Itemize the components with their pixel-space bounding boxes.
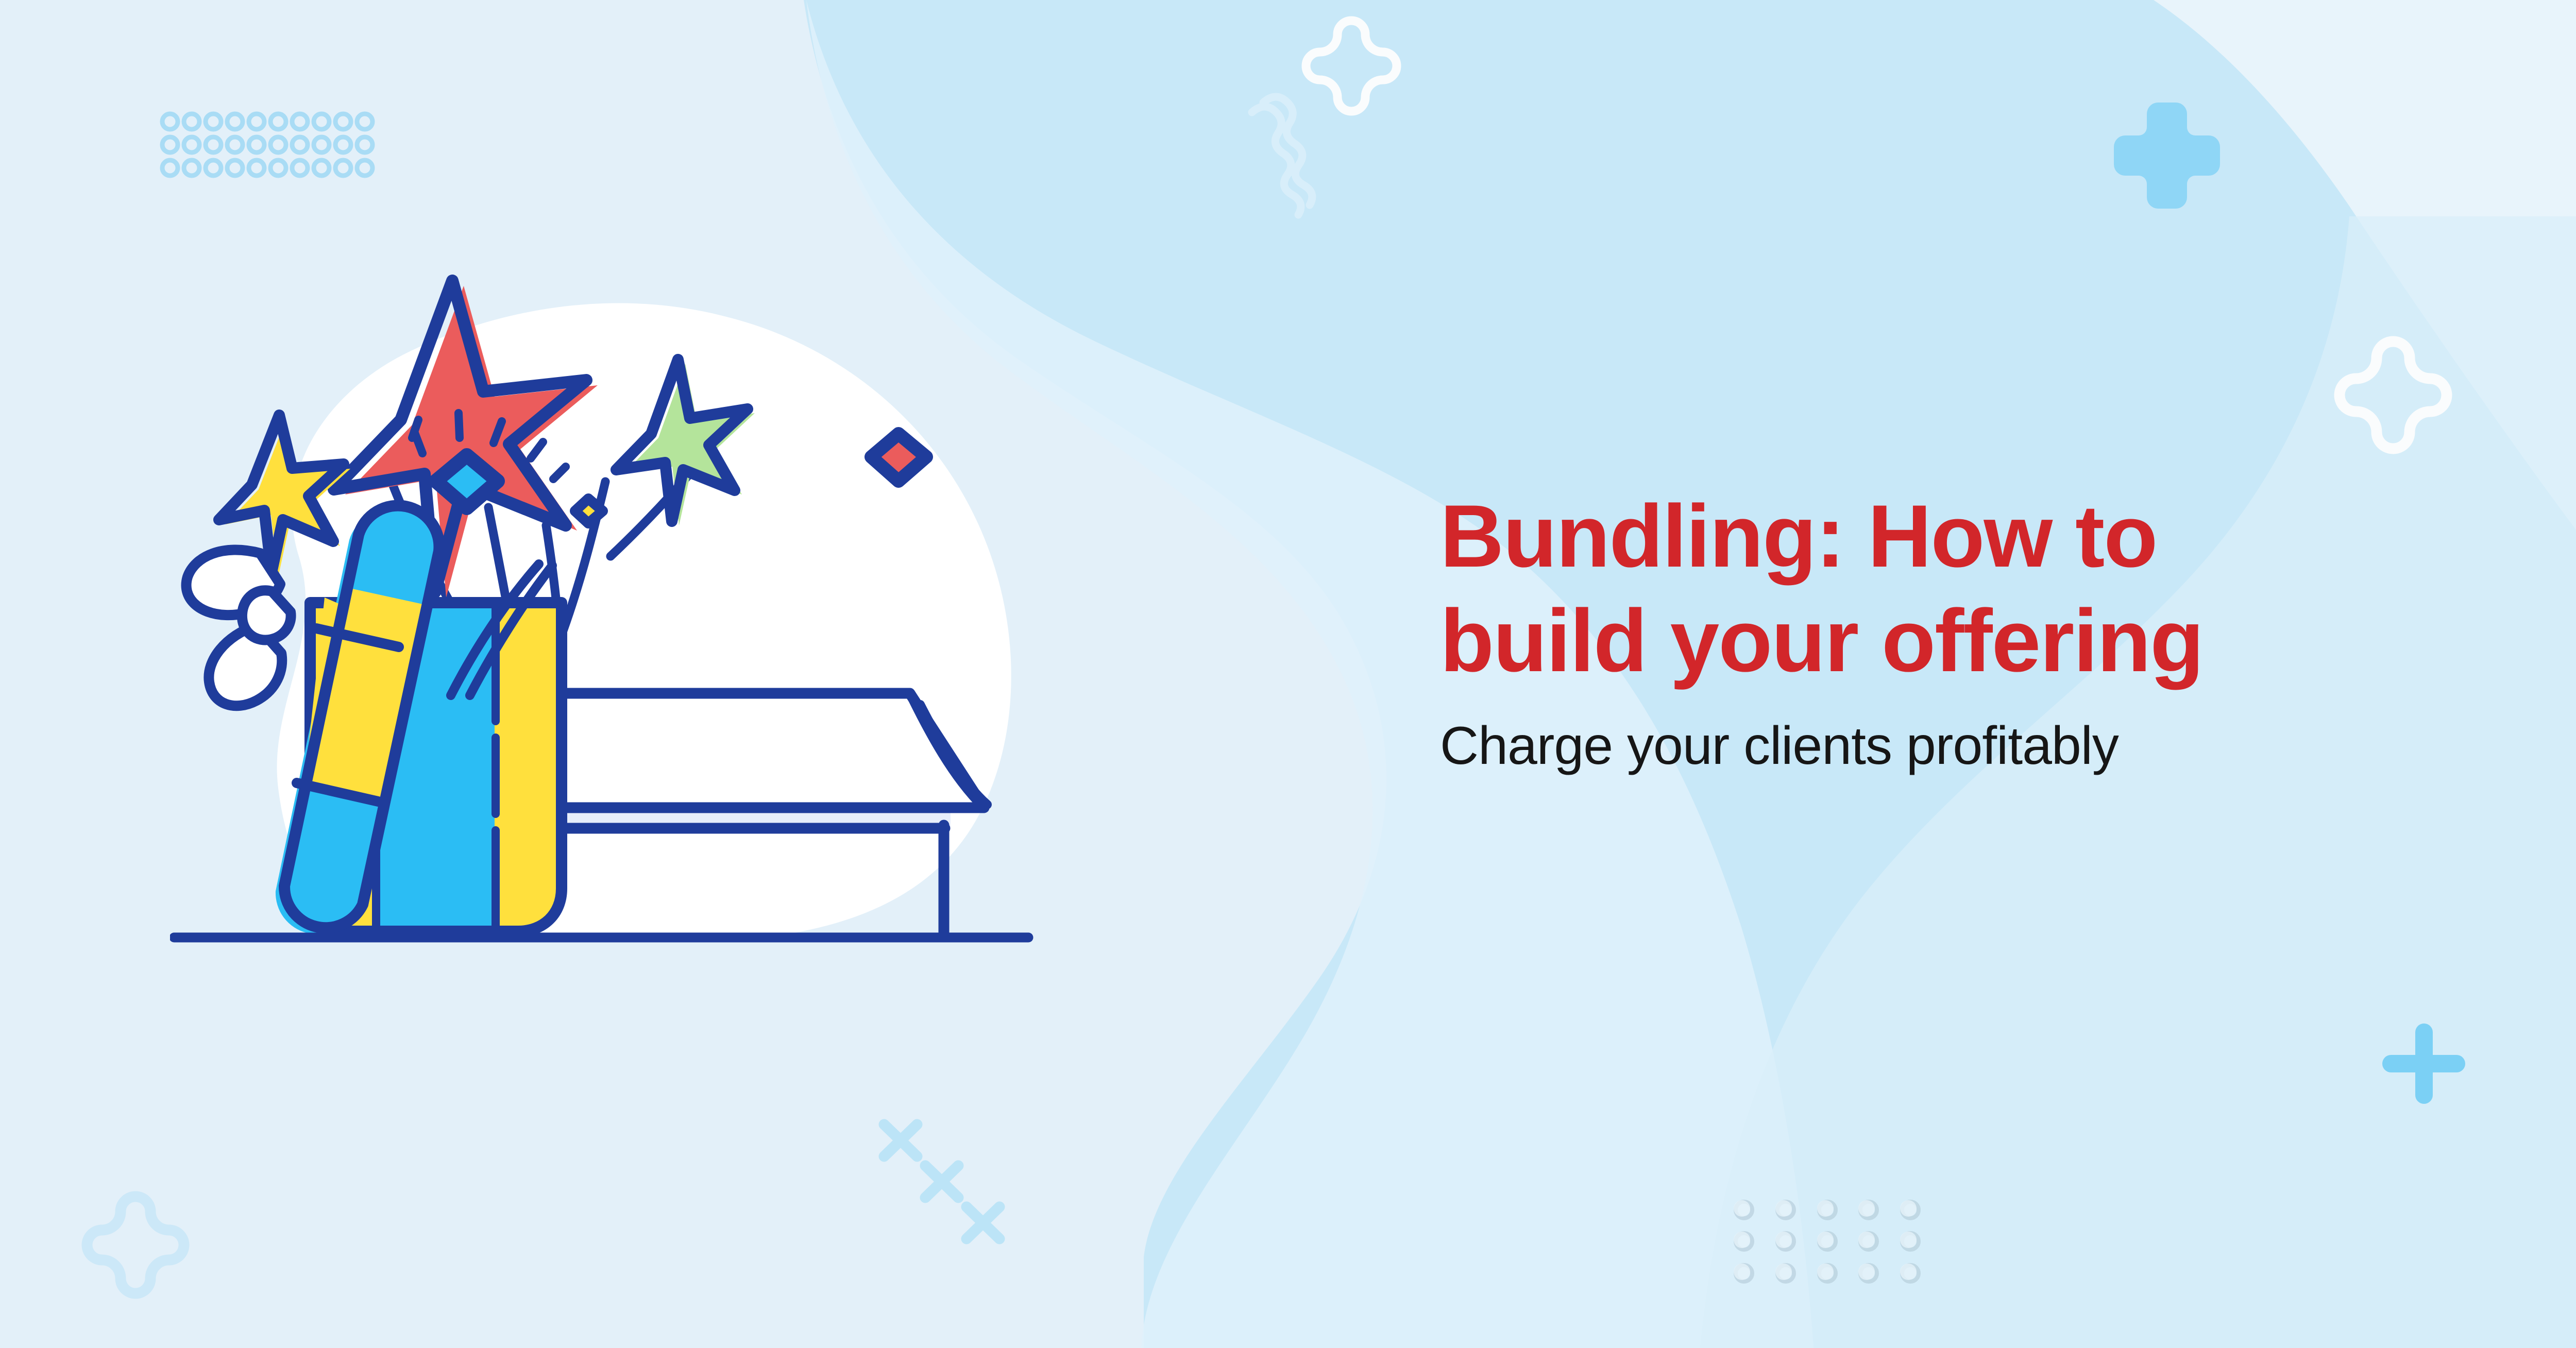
page-subtitle: Charge your clients profitably — [1440, 714, 2470, 778]
headline-line-1: Bundling: How to — [1440, 487, 2157, 586]
slide-text-block: Bundling: How tobuild your offering Char… — [1440, 484, 2470, 778]
slide-canvas: Bundling: How tobuild your offering Char… — [0, 0, 2576, 1348]
headline-line-2: build your offering — [1440, 591, 2203, 690]
page-title: Bundling: How tobuild your offering — [1440, 484, 2470, 693]
gift-box-illustration — [170, 268, 1149, 1015]
ribbon-bow — [187, 550, 291, 706]
